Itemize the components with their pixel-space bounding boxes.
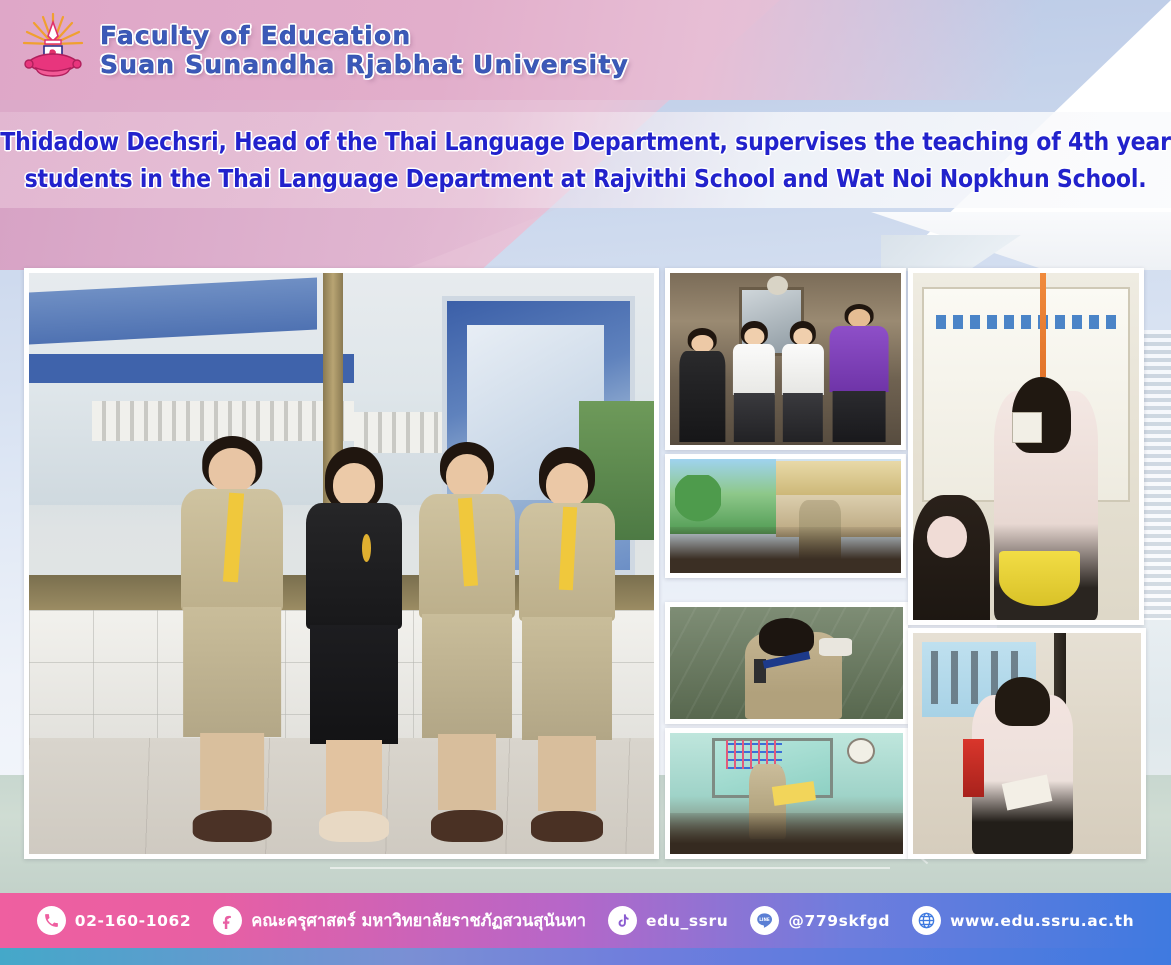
photo-group-corridor bbox=[24, 268, 659, 859]
photo-student-mic bbox=[665, 602, 908, 724]
contact-phone[interactable]: 02-160-1062 bbox=[37, 906, 192, 935]
headline-band: Thidadow Dechsri, Head of the Thai Langu… bbox=[0, 112, 1171, 208]
tiktok-icon bbox=[608, 906, 637, 935]
footer-accent-strip bbox=[0, 948, 1171, 965]
contact-website-label: www.edu.ssru.ac.th bbox=[950, 912, 1134, 930]
contact-website[interactable]: www.edu.ssru.ac.th bbox=[912, 906, 1134, 935]
contact-line[interactable]: LINE @779skfgd bbox=[750, 906, 890, 935]
phone-icon bbox=[37, 906, 66, 935]
header-title-line1: Faculty of Education bbox=[100, 22, 629, 49]
line-icon: LINE bbox=[750, 906, 779, 935]
header-bar: Faculty of Education Suan Sunandha Rjabh… bbox=[0, 0, 1171, 100]
header-title-line2: Suan Sunandha Rjabhat University bbox=[100, 51, 629, 78]
ssru-crest-icon bbox=[20, 10, 86, 90]
photo-student-laughing bbox=[908, 628, 1146, 859]
photo-collage bbox=[24, 268, 1144, 859]
footer-contact-bar: 02-160-1062 คณะครุศาสตร์ มหาวิทยาลัยราชภ… bbox=[0, 893, 1171, 948]
contact-tiktok-label: edu_ssru bbox=[646, 912, 728, 930]
contact-phone-label: 02-160-1062 bbox=[75, 912, 192, 930]
contact-facebook[interactable]: คณะครุศาสตร์ มหาวิทยาลัยราชภัฏสวนสุนันทา bbox=[213, 906, 586, 935]
contact-tiktok[interactable]: edu_ssru bbox=[608, 906, 728, 935]
svg-text:LINE: LINE bbox=[760, 917, 771, 922]
contact-line-label: @779skfgd bbox=[788, 912, 890, 930]
photo-group-classroom bbox=[665, 268, 906, 450]
headline-line1: Thidadow Dechsri, Head of the Thai Langu… bbox=[0, 127, 1171, 156]
poster-root: Faculty of Education Suan Sunandha Rjabh… bbox=[0, 0, 1171, 965]
facebook-icon bbox=[213, 906, 242, 935]
background-ground-line bbox=[330, 867, 890, 869]
globe-icon bbox=[912, 906, 941, 935]
contact-facebook-label: คณะครุศาสตร์ มหาวิทยาลัยราชภัฏสวนสุนันทา bbox=[251, 908, 586, 934]
headline-line2: students in the Thai Language Department… bbox=[25, 164, 1147, 193]
photo-whiteboard-lesson bbox=[908, 268, 1144, 625]
photo-teacher-mural bbox=[665, 454, 906, 578]
photo-teacher-reading bbox=[665, 728, 908, 859]
header-titles: Faculty of Education Suan Sunandha Rjabh… bbox=[100, 22, 629, 78]
